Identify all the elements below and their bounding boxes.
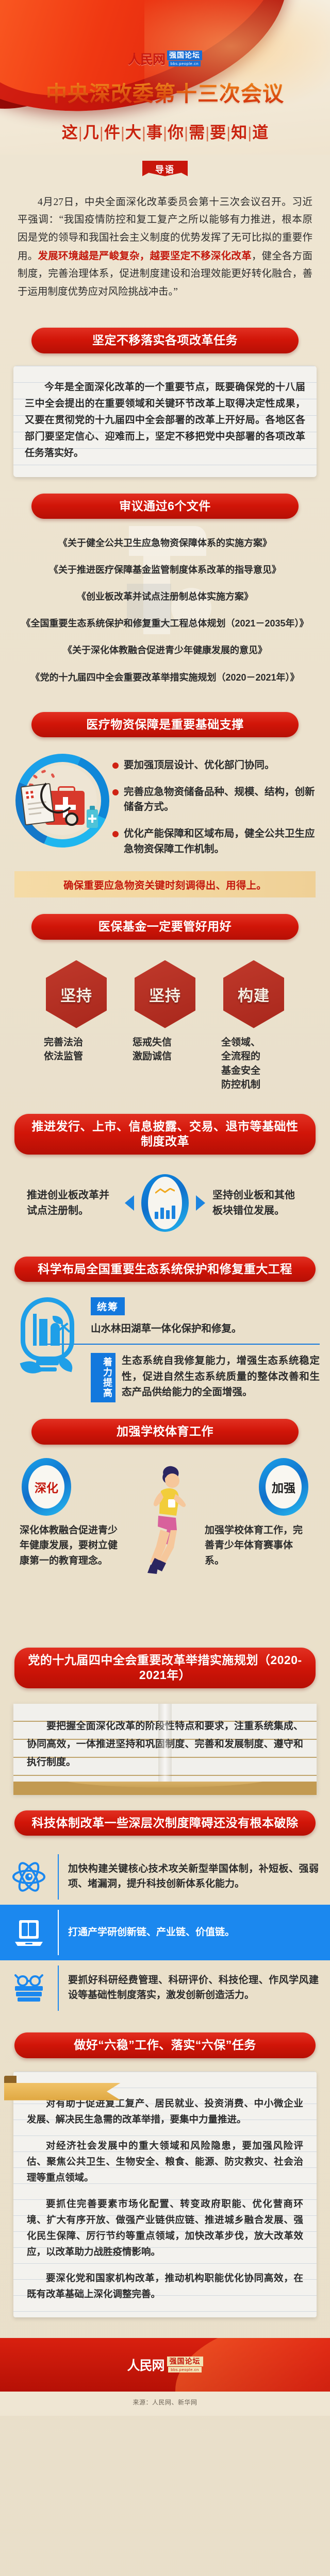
- chart-comparison-row: 推进创业板改革并试点注册制。 坚持创业板和其他板块错位发展。: [0, 1155, 330, 1240]
- section-banner: 科技体制改革一些深层次制度障碍还没有根本破除: [14, 1810, 316, 1836]
- book-gutter: [158, 1704, 172, 1794]
- ecosystem-text-block: 统筹 山水林田湖草一体化保护和修复。 着力提高 生态系统自我修复能力，增强生态系…: [91, 1295, 320, 1402]
- hexagon-item: 构建 全领域、 全流程的 基金安全 防控机制: [217, 960, 290, 1092]
- hexagon-shape: 构建: [223, 960, 284, 1028]
- lead-paragraph: 4月27日，中央全面深化改革委员会第十三次会议召开。习近平强调：“我国疫情防控和…: [18, 194, 312, 301]
- hexagon-shape: 坚持: [46, 960, 107, 1028]
- bullet-dot-icon: [112, 762, 119, 769]
- subtitle-c2: 件: [104, 124, 120, 142]
- hexagon-verb: 坚持: [149, 983, 181, 1006]
- list-item: 加快构建关键核心技术攻关新型举国体制，补短板、强弱项、堵漏洞，提升科技创新体系化…: [0, 1849, 330, 1905]
- document-list: 《关于健全公共卫生应急物资保障体系的实施方案》 《关于推进医疗保障基金监管制度体…: [0, 519, 330, 696]
- atom-icon: [0, 1860, 58, 1894]
- footer-logo[interactable]: 人民网 强国论坛 bbs.people.cn: [127, 2357, 203, 2372]
- page-subtitle: 这|几|件|大|事|你|需|要|知|道: [0, 120, 330, 143]
- logo-people-cn: 人民网: [128, 54, 165, 66]
- eco-tag-coordination: 统筹: [91, 1297, 125, 1315]
- chart-left-text: 推进创业板改革并试点注册制。: [27, 1188, 118, 1218]
- section-documents: 审议通过6个文件 《关于健全公共卫生应急物资保障体系的实施方案》 《关于推进医疗…: [0, 494, 330, 699]
- arrow-right-icon: [196, 1195, 205, 1211]
- bullet-dot-icon: [112, 831, 119, 837]
- hexagon-row: 坚持 完善法治 依法监管 坚持 惩戒失信 激励诚信 构建 全领域、 全流程的 基…: [0, 940, 330, 1097]
- list-item: 优化产能保障和区域布局，健全公共卫生应急物资保障工作机制。: [112, 826, 319, 857]
- tech-text: 打通产学研创新链、产业链、价值链。: [59, 1917, 330, 1948]
- section-banner: 党的十九届四中全会重要改革举措实施规划（2020-2021年）: [14, 1648, 316, 1688]
- logo-forum-url: bbs.people.cn: [169, 61, 201, 66]
- tech-text: 要抓好科研经费管理、科研评价、科技伦理、作风学风建设等基础性制度落实，激发创新创…: [59, 1965, 330, 2011]
- list-item: 打通产学研创新链、产业链、价值链。: [0, 1905, 330, 1960]
- runner-icon: [134, 1462, 196, 1591]
- sports-content: 深化 加强 深化体教融合促进青少年健康发展，要树立健康第一的教育理念。: [0, 1445, 330, 1631]
- footer-forum-block: 强国论坛 bbs.people.cn: [167, 2357, 203, 2372]
- list-item: 《党的十九届四中全会重要改革举措实施规划（2020－2021年）》: [8, 671, 322, 684]
- medical-bullet-list: 要加强顶层设计、优化部门协同。 完善应急物资储备品种、规模、结构，创新储备方式。…: [112, 751, 319, 868]
- bullet-text: 优化产能保障和区域布局，健全公共卫生应急物资保障工作机制。: [124, 826, 319, 857]
- footer-forum-label: 强国论坛: [167, 2357, 203, 2366]
- list-item: 《全国重要生态系统保护和修复重大工程总体规划（2021－2035年）》: [8, 617, 322, 630]
- section-reform-plan: 党的十九届四中全会重要改革举措实施规划（2020-2021年） 要把握全面深化改…: [0, 1648, 330, 1797]
- subtitle-c1: 几: [83, 124, 99, 142]
- section-banner: 医疗物资保障是重要基础支撑: [31, 712, 299, 737]
- subtitle-c8: 知: [231, 124, 247, 142]
- logo-forum-block: 强国论坛 bbs.people.cn: [167, 50, 202, 66]
- hexagon-verb: 构建: [238, 983, 270, 1006]
- eco-line-1: 山水林田湖草一体化保护和修复。: [91, 1321, 320, 1336]
- bullet-text: 要加强顶层设计、优化部门协同。: [124, 758, 275, 773]
- ribbon-tag-icon: [4, 2083, 121, 2100]
- arrow-left-icon: [125, 1195, 134, 1211]
- section-medical-supplies: 医疗物资保障是重要基础支撑: [0, 712, 330, 901]
- ecosystem-content: 统筹 山水林田湖草一体化保护和修复。 着力提高 生态系统自我修复能力，增强生态系…: [0, 1282, 330, 1402]
- sports-left-text: 深化体教融合促进青少年健康发展，要树立健康第一的教育理念。: [20, 1523, 125, 1568]
- eco-paragraph-2: 生态系统自我修复能力，增强生态系统稳定性，促进自然生态系统质量的整体改善和生态产…: [122, 1353, 320, 1402]
- hexagon-shape: 坚持: [135, 960, 195, 1028]
- notebook-card: 今年是全面深化改革的一个重要节点，既要确保党的十八届三中全会提出的在重要领域和关…: [13, 366, 317, 477]
- hero-header: 人民网 强国论坛 bbs.people.cn 中央深改委第十三次会议 这|几|件…: [0, 0, 330, 155]
- subtitle-c5: 你: [168, 124, 184, 142]
- section-ecosystem: 科学布局全国重要生态系统保护和修复重大工程 统筹 山水林田湖草一体化保护和修复。: [0, 1257, 330, 1406]
- section-banner: 推进发行、上市、信息披露、交易、退市等基础性制度改革: [14, 1114, 316, 1155]
- section-chinext-reform: 推进发行、上市、信息披露、交易、退市等基础性制度改革 推进创业板改革并试点注册制…: [0, 1114, 330, 1243]
- lead-section: 4月27日，中央全面深化改革委员会第十三次会议召开。习近平强调：“我国疫情防控和…: [0, 176, 330, 314]
- section-banner: 科学布局全国重要生态系统保护和修复重大工程: [14, 1257, 316, 1282]
- tech-text: 加快构建关键核心技术攻关新型举国体制，补短板、强弱项、堵漏洞，提升科技创新体系化…: [59, 1854, 330, 1900]
- hexagon-label: 惩戒失信 激励诚信: [128, 1036, 202, 1064]
- section-six-stabilities: 做好“六稳”工作、落实“六保”任务 对有助于促进复工复产、居民就业、投资消费、中…: [0, 2032, 330, 2320]
- credits-line: 来源：人民网、新华网: [0, 2392, 330, 2416]
- hexagon-label: 全领域、 全流程的 基金安全 防控机制: [217, 1036, 290, 1092]
- lead-text-highlight: 发展环境越是严峻复杂，越要坚定不移深化改革: [38, 250, 251, 262]
- hexagon-item: 坚持 完善法治 依法监管: [40, 960, 113, 1092]
- medical-kit-icon: [11, 751, 109, 856]
- subtitle-c0: 这: [62, 124, 78, 142]
- section-banner: 坚定不移落实各项改革任务: [31, 328, 299, 353]
- medical-content: 要加强顶层设计、优化部门协同。 完善应急物资储备品种、规模、结构，创新储备方式。…: [0, 737, 330, 868]
- bar-chart-icon: [141, 1174, 189, 1232]
- paragraph: 对经济社会发展中的重大领域和风险隐患，要加强风险评估、聚焦公共卫生、生物安全、粮…: [27, 2138, 303, 2185]
- eco-bulb-icon: [10, 1295, 89, 1387]
- list-item: 要加强顶层设计、优化部门协同。: [112, 758, 319, 773]
- chart-right-text: 坚持创业板和其他板块错位发展。: [212, 1188, 303, 1218]
- sparkline-icon: [155, 1188, 175, 1194]
- list-item: 《关于深化体教融合促进青少年健康发展的意见》: [8, 643, 322, 657]
- section-school-sports: 加强学校体育工作 深化 加强 深化体教: [0, 1419, 330, 1634]
- bullet-dot-icon: [112, 789, 119, 795]
- badge-strengthen-label: 加强: [266, 1465, 302, 1509]
- book-spine: [13, 1782, 317, 1795]
- subtitle-c4: 事: [146, 124, 162, 142]
- footer-logo-people-cn: 人民网: [127, 2360, 164, 2372]
- eco-tag-improve: 着力提高: [91, 1353, 115, 1402]
- section-banner: 做好“六稳”工作、落实“六保”任务: [14, 2032, 316, 2058]
- sports-right-text: 加强学校体育工作，完善青少年体育赛事体系。: [205, 1523, 310, 1568]
- infographic-page: 人民网 强国论坛 bbs.people.cn 中央深改委第十三次会议 这|几|件…: [0, 0, 330, 2576]
- site-logo[interactable]: 人民网 强国论坛 bbs.people.cn: [0, 50, 330, 66]
- notebook-text: 今年是全面深化改革的一个重要节点，既要确保党的十八届三中全会提出的在重要领域和关…: [25, 379, 305, 462]
- highlight-callout: 确保重要应急物资关键时刻调得出、用得上。: [14, 871, 316, 897]
- laptop-book-icon: [0, 1917, 58, 1948]
- eco-row-improve: 着力提高 生态系统自我修复能力，增强生态系统稳定性，促进自然生态系统质量的整体改…: [91, 1345, 320, 1402]
- hexagon-label: 完善法治 依法监管: [40, 1036, 113, 1064]
- section-banner: 医保基金一定要管好用好: [31, 914, 299, 939]
- footer-forum-url: bbs.people.cn: [168, 2367, 202, 2372]
- tech-rows: 加快构建关键核心技术攻关新型举国体制，补短板、强弱项、堵漏洞，提升科技创新体系化…: [0, 1836, 330, 2016]
- section-reform-tasks: 坚定不移落实各项改革任务 今年是全面深化改革的一个重要节点，既要确保党的十八届三…: [0, 328, 330, 480]
- subtitle-c3: 大: [125, 124, 141, 142]
- bullet-text: 完善应急物资储备品种、规模、结构，创新储备方式。: [124, 785, 319, 815]
- list-item: 《关于推进医疗保障基金监管制度体系改革的指导意见》: [8, 563, 322, 577]
- subtitle-c6: 需: [189, 124, 205, 142]
- paragraph: 要抓住完善要素市场化配置、转变政府职能、优化营商环境、扩大有序开放、做强产业链供…: [27, 2196, 303, 2260]
- list-item: 《创业板改革并试点注册制总体实施方案》: [8, 590, 322, 603]
- section-tech-reform: 科技体制改革一些深层次制度障碍还没有根本破除 加快构建关键核心技术攻关新型举国体…: [0, 1810, 330, 2019]
- list-item: 完善应急物资储备品种、规模、结构，创新储备方式。: [112, 785, 319, 815]
- badge-deepen-label: 深化: [28, 1465, 64, 1509]
- hexagon-item: 坚持 惩戒失信 激励诚信: [128, 960, 202, 1092]
- section-medical-fund: 医保基金一定要管好用好 坚持 完善法治 依法监管 坚持 惩戒失信 激励诚信 构建…: [0, 914, 330, 1100]
- subtitle-c9: 道: [252, 124, 268, 142]
- badge-deepen: 深化: [22, 1458, 71, 1516]
- subtitle-c7: 要: [210, 124, 226, 142]
- hexagon-verb: 坚持: [60, 983, 92, 1006]
- badge-strengthen: 加强: [259, 1458, 308, 1516]
- footer-bar: 人民网 强国论坛 bbs.people.cn: [0, 2338, 330, 2392]
- open-book-card: 要把握全面深化改革的阶段性特点和要求，注重系统集成、协同高效，一体推进坚持和巩固…: [13, 1704, 317, 1794]
- list-item: 《关于健全公共卫生应急物资保障体系的实施方案》: [8, 536, 322, 550]
- scroll-card: 对有助于促进复工复产、居民就业、投资消费、中小微企业发展、解决民生急需的改革举措…: [13, 2072, 317, 2317]
- lead-tag: 导语: [142, 161, 188, 176]
- paragraph: 要深化党和国家机构改革，推动机构职能优化协同高效，在既有改革基础上深化调整完善。: [27, 2270, 303, 2302]
- list-item: 要抓好科研经费管理、科研评价、科技伦理、作风学风建设等基础性制度落实，激发创新创…: [0, 1960, 330, 2016]
- page-title: 中央深改委第十三次会议: [0, 76, 330, 107]
- books-glasses-icon: [0, 1973, 58, 2004]
- logo-forum-label: 强国论坛: [167, 50, 202, 60]
- section-banner: 加强学校体育工作: [31, 1419, 299, 1444]
- section-banner: 审议通过6个文件: [31, 494, 299, 519]
